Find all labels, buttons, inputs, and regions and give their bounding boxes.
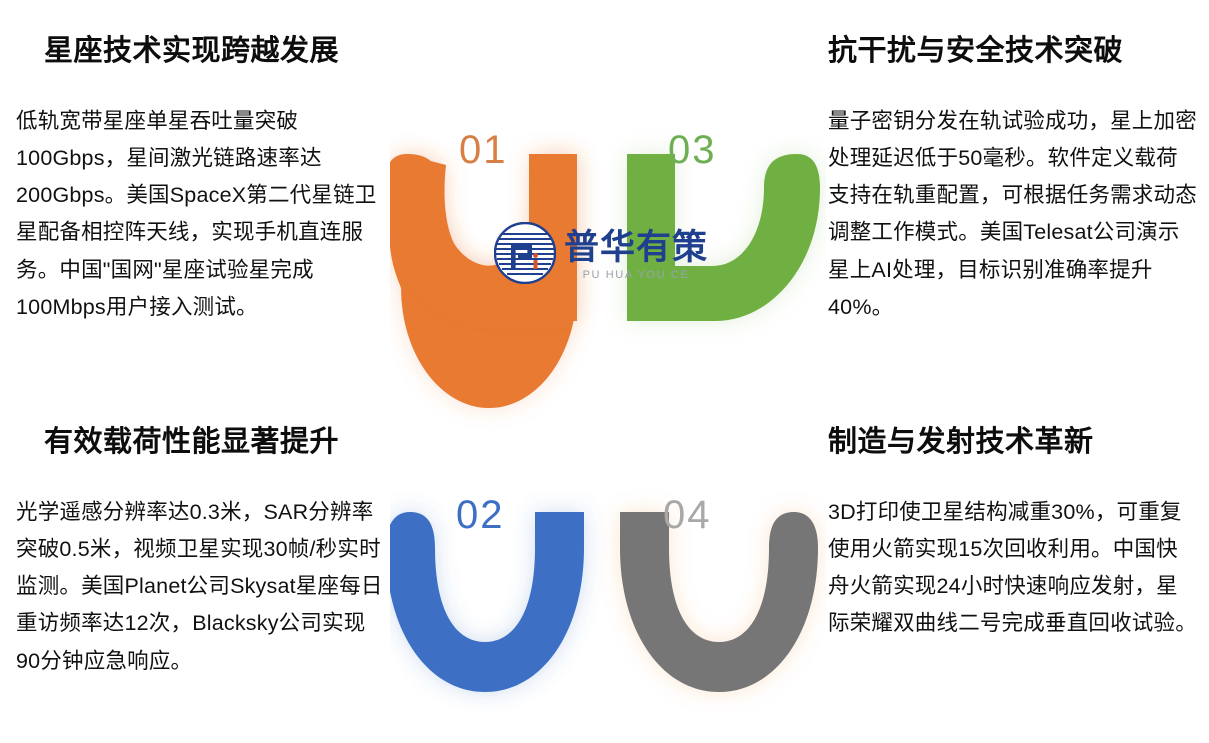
block-body-01: 低轨宽带星座单星吞吐量突破100Gbps，星间激光链路速率达200Gbps。美国…: [14, 103, 386, 326]
hook-number-01: 01: [459, 128, 508, 173]
circular-emblem-icon: [494, 222, 556, 289]
block-title-04: 制造与发射技术革新: [826, 425, 1198, 460]
block-title-03: 抗干扰与安全技术突破: [826, 34, 1198, 69]
company-logo: 普华有策 PU HUA YOU CE: [494, 222, 708, 289]
block-body-03: 量子密钥分发在轨试验成功，星上加密处理延迟低于50毫秒。软件定义载荷支持在轨重配…: [826, 103, 1198, 326]
content-block-04: 制造与发射技术革新 3D打印使卫星结构减重30%，可重复使用火箭实现15次回收利…: [826, 425, 1198, 643]
block-title-02: 有效载荷性能显著提升: [14, 425, 386, 460]
infographic-page: 01 02 03 04: [0, 0, 1209, 743]
block-body-02: 光学遥感分辨率达0.3米，SAR分辨率突破0.5米，视频卫星实现30帧/秒实时监…: [14, 494, 386, 680]
hook-number-02: 02: [456, 493, 505, 538]
hook-shape-04: [620, 512, 818, 692]
logo-name-cn: 普华有策: [564, 230, 708, 265]
logo-name-en: PU HUA YOU CE: [564, 270, 708, 281]
block-body-04: 3D打印使卫星结构减重30%，可重复使用火箭实现15次回收利用。中国快舟火箭实现…: [826, 494, 1198, 643]
hook-shape-02: [390, 512, 584, 692]
center-hooks-graphic: [390, 70, 826, 720]
block-title-01: 星座技术实现跨越发展: [14, 34, 386, 69]
logo-wordmark: 普华有策 PU HUA YOU CE: [564, 230, 708, 281]
hook-number-03: 03: [668, 128, 717, 173]
content-block-03: 抗干扰与安全技术突破 量子密钥分发在轨试验成功，星上加密处理延迟低于50毫秒。软…: [826, 34, 1198, 326]
content-block-02: 有效载荷性能显著提升 光学遥感分辨率达0.3米，SAR分辨率突破0.5米，视频卫…: [14, 425, 386, 680]
content-block-01: 星座技术实现跨越发展 低轨宽带星座单星吞吐量突破100Gbps，星间激光链路速率…: [14, 34, 386, 326]
hook-number-04: 04: [663, 493, 712, 538]
